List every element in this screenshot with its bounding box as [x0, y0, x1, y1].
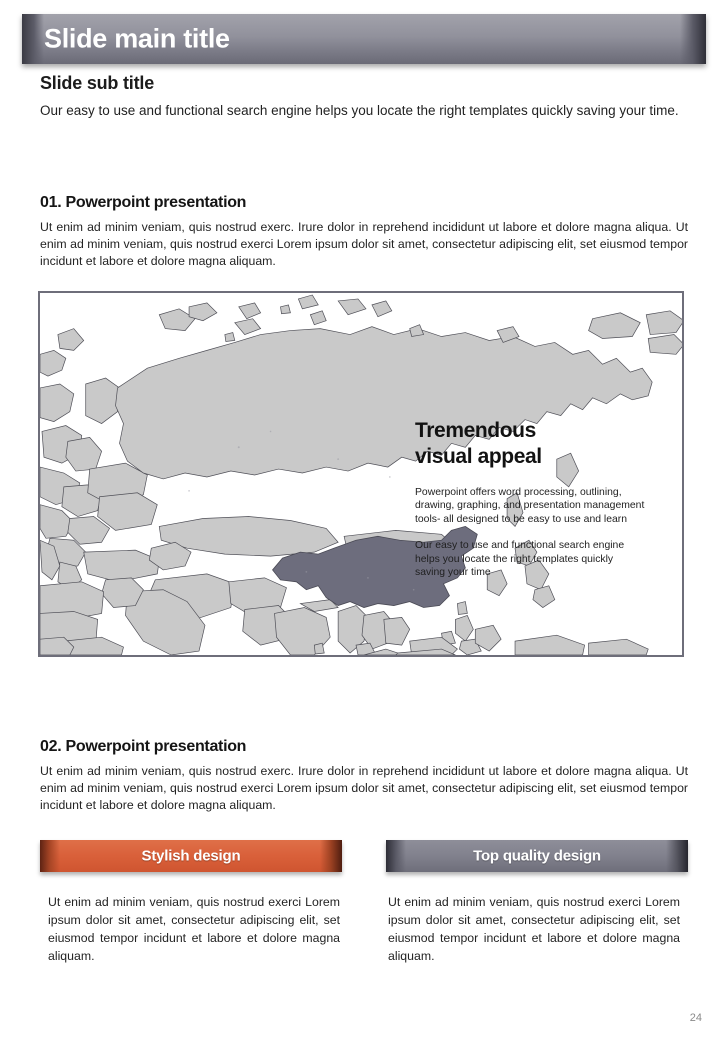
- slide-title-bar: Slide main title: [22, 14, 706, 64]
- section-one-heading: 01. Powerpoint presentation: [40, 194, 246, 212]
- map-paragraph-two: Our easy to use and functional search en…: [415, 539, 645, 579]
- banner-left-label: Stylish design: [40, 848, 342, 865]
- map-panel: Tremendous visual appeal Powerpoint offe…: [38, 291, 684, 657]
- banner-right-label: Top quality design: [386, 848, 688, 865]
- section-two-heading: 02. Powerpoint presentation: [40, 738, 246, 756]
- column-left-text: Ut enim ad minim veniam, quis nostrud ex…: [48, 893, 340, 965]
- map-heading-line-2: visual appeal: [415, 445, 542, 468]
- map-heading: Tremendous visual appeal: [415, 418, 645, 470]
- column-right-text: Ut enim ad minim veniam, quis nostrud ex…: [388, 893, 680, 965]
- map-paragraph-one: Powerpoint offers word processing, outli…: [415, 486, 645, 526]
- map-copy-block: Tremendous visual appeal Powerpoint offe…: [415, 418, 645, 579]
- map-heading-line-1: Tremendous: [415, 419, 536, 442]
- page-number: 24: [690, 1012, 702, 1024]
- slide-canvas: Slide main title Slide sub title Our eas…: [0, 0, 720, 1040]
- slide-intro-text: Our easy to use and functional search en…: [40, 101, 688, 120]
- section-one-body: Ut enim ad minim veniam, quis nostrud ex…: [40, 219, 688, 270]
- banner-top-quality-design[interactable]: Top quality design: [386, 840, 688, 872]
- banner-stylish-design[interactable]: Stylish design: [40, 840, 342, 872]
- slide-sub-title: Slide sub title: [40, 73, 154, 94]
- page-title: Slide main title: [44, 24, 230, 55]
- section-two-body: Ut enim ad minim veniam, quis nostrud ex…: [40, 763, 688, 814]
